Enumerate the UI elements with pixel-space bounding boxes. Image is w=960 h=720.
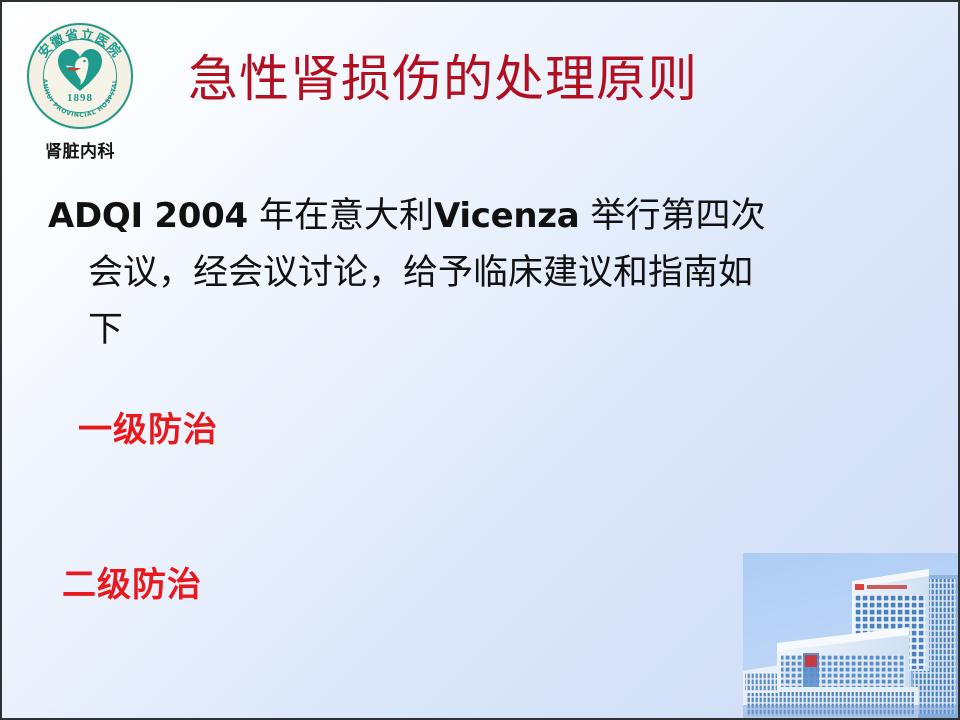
- hospital-logo-block: 安徽省立医院 ANHUI PROVINCIAL HOSPITAL 1898 肾脏…: [10, 22, 150, 162]
- body-line-2: 会议，经会议讨论，给予临床建议和指南如: [48, 245, 928, 302]
- hospital-emblem-icon: 安徽省立医院 ANHUI PROVINCIAL HOSPITAL 1898: [26, 22, 134, 130]
- department-label: 肾脏内科: [10, 137, 150, 162]
- heart-dove-icon: [57, 48, 103, 92]
- body-line-1-cn-a: 年在意大利: [248, 196, 434, 236]
- presentation-slide: 安徽省立医院 ANHUI PROVINCIAL HOSPITAL 1898 肾脏…: [0, 0, 960, 720]
- emblem-founded-year: 1898: [26, 92, 134, 104]
- hospital-building-photo: [743, 553, 958, 718]
- body-line-3: 下: [48, 302, 928, 359]
- heading-secondary-prevention: 二级防治: [62, 557, 202, 606]
- body-line-1-cn-b: 举行第四次: [579, 196, 765, 236]
- heading-primary-prevention: 一级防治: [78, 402, 218, 451]
- body-line-1-latin: ADQI 2004: [48, 196, 248, 236]
- building-illustration: [743, 553, 958, 718]
- slide-body-text: ADQI 2004 年在意大利Vicenza 举行第四次 会议，经会议讨论，给予…: [48, 188, 928, 359]
- body-line-1: ADQI 2004 年在意大利Vicenza 举行第四次: [48, 188, 928, 245]
- slide-title: 急性肾损伤的处理原则: [188, 51, 698, 109]
- body-line-1-latin-2: Vicenza: [434, 196, 579, 236]
